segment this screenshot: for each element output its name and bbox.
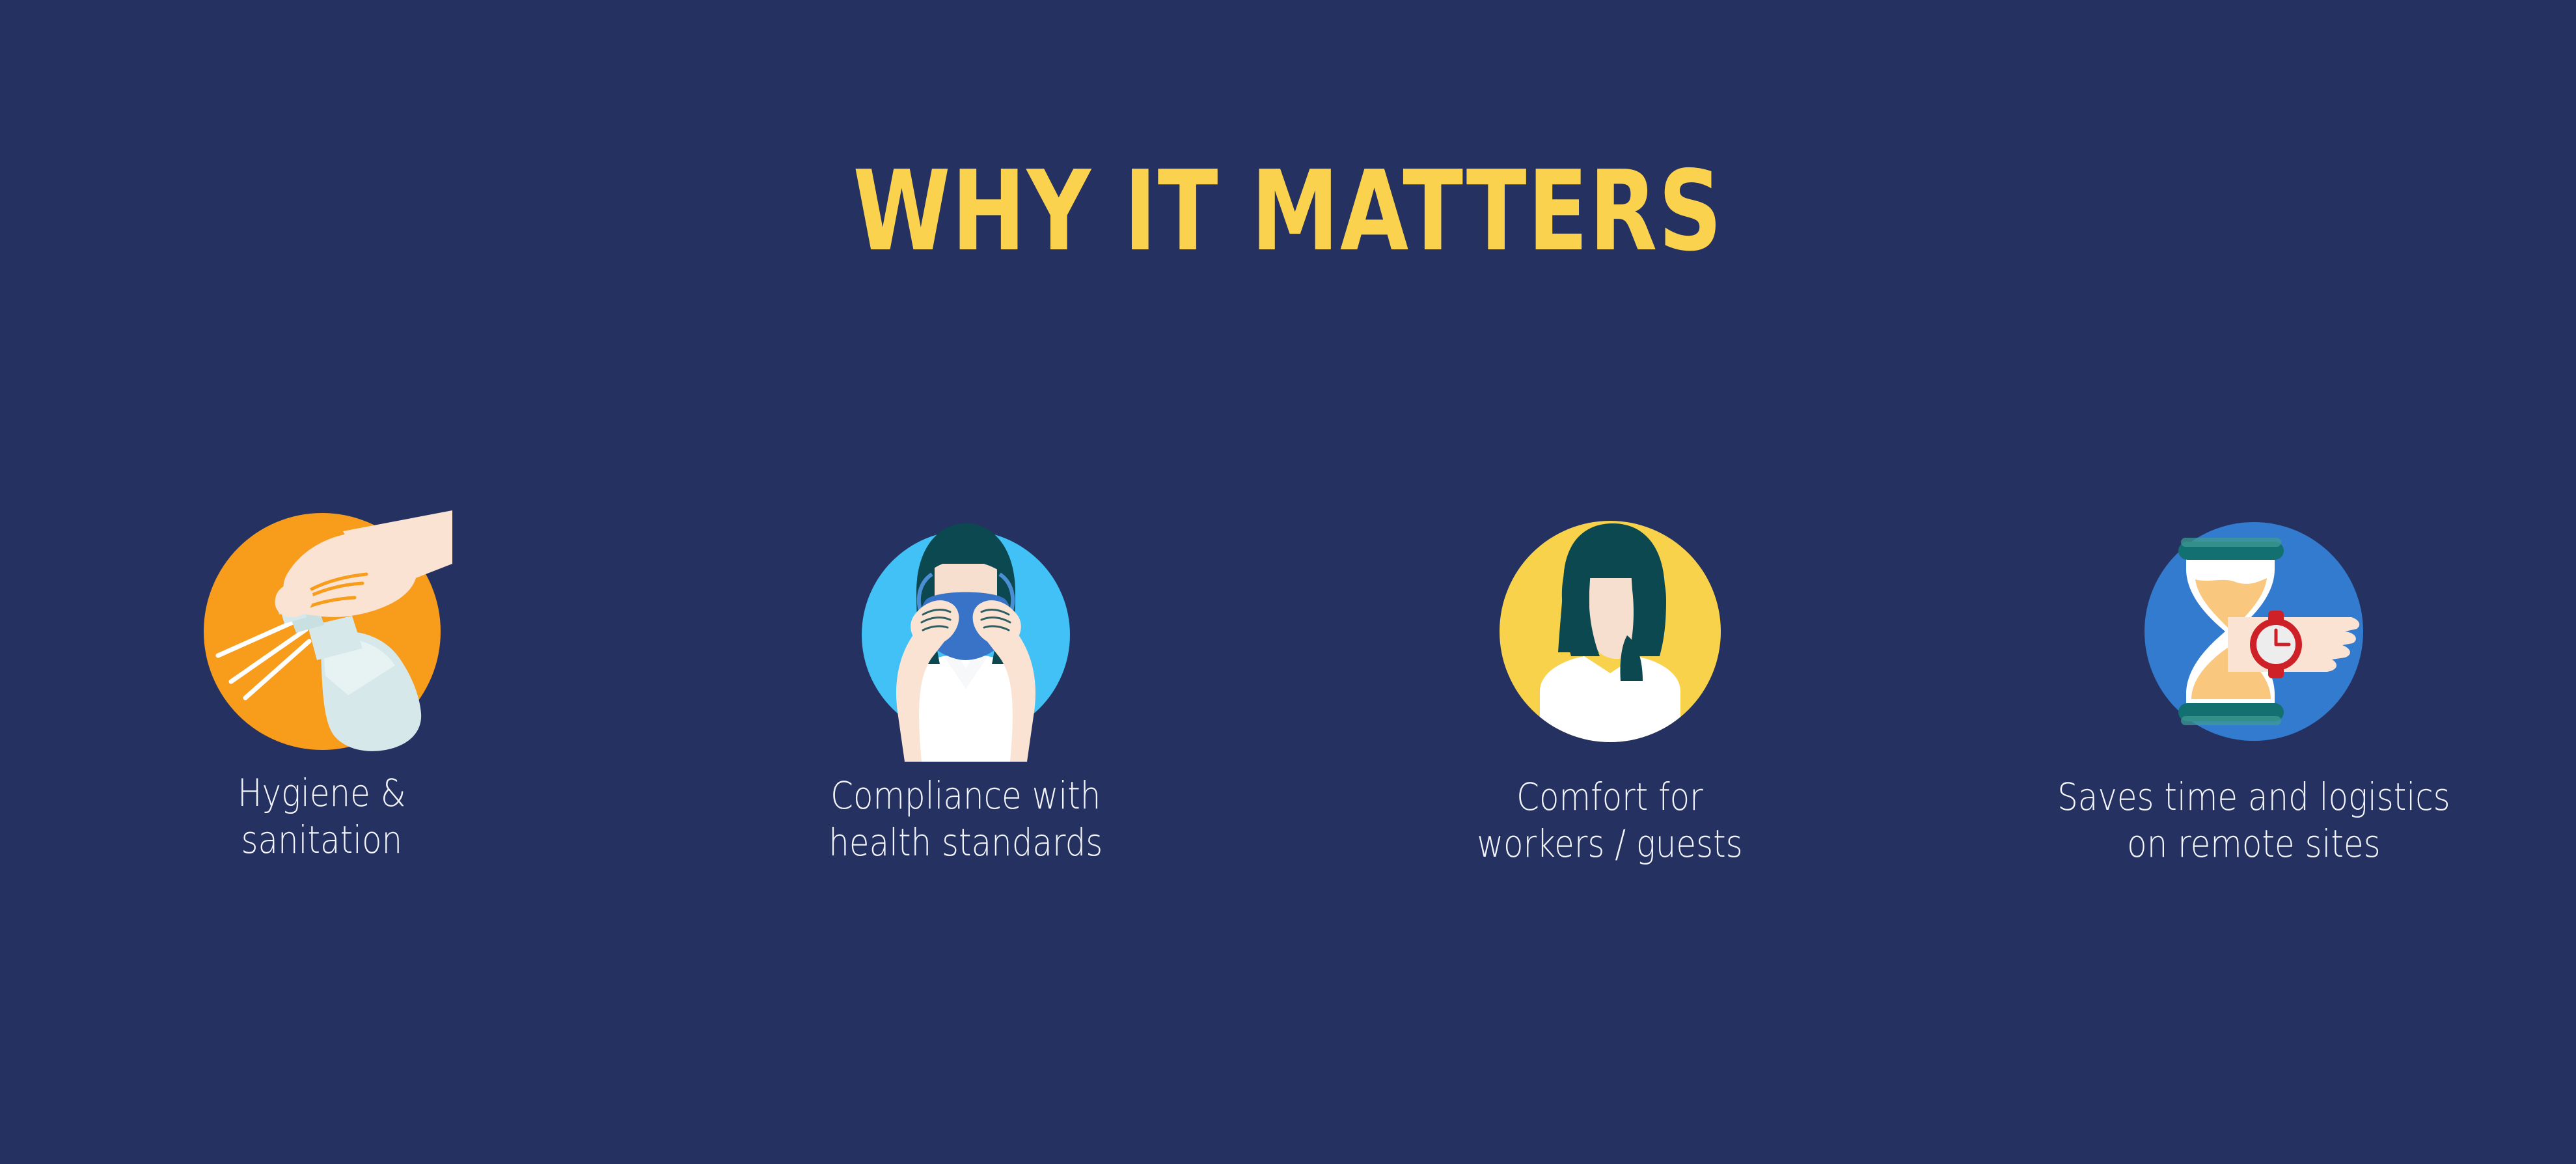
slide-canvas: WHY IT MATTERS [0, 0, 2576, 1164]
benefit-card-hygiene[interactable]: Hygiene & sanitation [0, 501, 644, 863]
benefit-caption: Comfort for workers / guests [1477, 773, 1743, 867]
benefits-card-row: Hygiene & sanitation [0, 501, 2576, 957]
hourglass-wristwatch-icon [2124, 501, 2384, 762]
benefit-caption: Compliance with health standards [829, 772, 1103, 866]
woman-portrait-icon [1480, 501, 1740, 762]
benefit-caption: Saves time and logistics on remote sites [2057, 773, 2450, 867]
person-wearing-face-mask-icon [836, 501, 1096, 762]
benefit-card-compliance[interactable]: Compliance with health standards [644, 501, 1289, 866]
benefit-card-time[interactable]: Saves time and logistics on remote sites [1932, 501, 2576, 867]
page-title: WHY IT MATTERS [258, 153, 2318, 270]
benefit-caption: Hygiene & sanitation [238, 769, 406, 863]
hand-spray-bottle-icon [192, 501, 452, 762]
benefit-card-comfort[interactable]: Comfort for workers / guests [1288, 501, 1932, 867]
